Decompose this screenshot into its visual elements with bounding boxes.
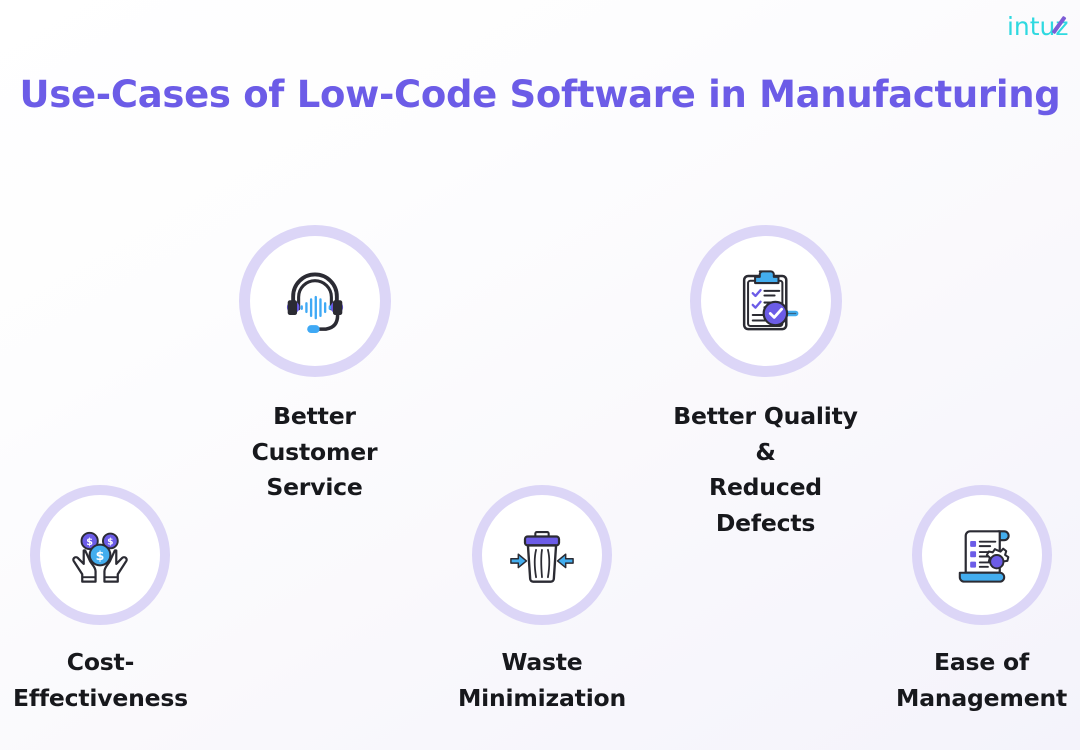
use-case-label: Ease of Management xyxy=(896,645,1067,716)
icon-circle xyxy=(690,225,842,377)
logo-wordmark: intu xyxy=(1007,14,1055,39)
svg-text:$: $ xyxy=(108,538,114,548)
svg-text:$: $ xyxy=(96,548,105,563)
intuz-logo: intu z xyxy=(1007,14,1068,39)
clipboard-check-magnifier-icon xyxy=(727,262,805,340)
page-title: Use-Cases of Low-Code Software in Manufa… xyxy=(0,69,1080,120)
use-case-card-waste-minimization: Waste Minimization xyxy=(458,485,626,716)
use-case-card-cost-effectiveness: $ $ $ Cost- Effectiveness xyxy=(13,485,188,716)
infographic-canvas: intu z Use-Cases of Low-Code Software in… xyxy=(0,0,1080,750)
icon-circle xyxy=(472,485,612,625)
logo-z-letter: z xyxy=(1055,14,1068,39)
use-case-card-ease-of-management: Ease of Management xyxy=(896,485,1067,716)
headset-icon xyxy=(276,262,354,340)
trash-bin-compress-icon xyxy=(505,518,579,592)
svg-text:$: $ xyxy=(87,537,94,548)
icon-circle xyxy=(239,225,391,377)
icon-circle xyxy=(912,485,1052,625)
use-case-row-bottom: $ $ $ Cost- Effectiveness xyxy=(40,485,1040,716)
document-gear-icon xyxy=(945,518,1019,592)
icon-circle: $ $ $ xyxy=(30,485,170,625)
use-case-label: Waste Minimization xyxy=(458,645,626,716)
hands-holding-coins-icon: $ $ $ xyxy=(63,518,137,592)
use-case-label: Cost- Effectiveness xyxy=(13,645,188,716)
